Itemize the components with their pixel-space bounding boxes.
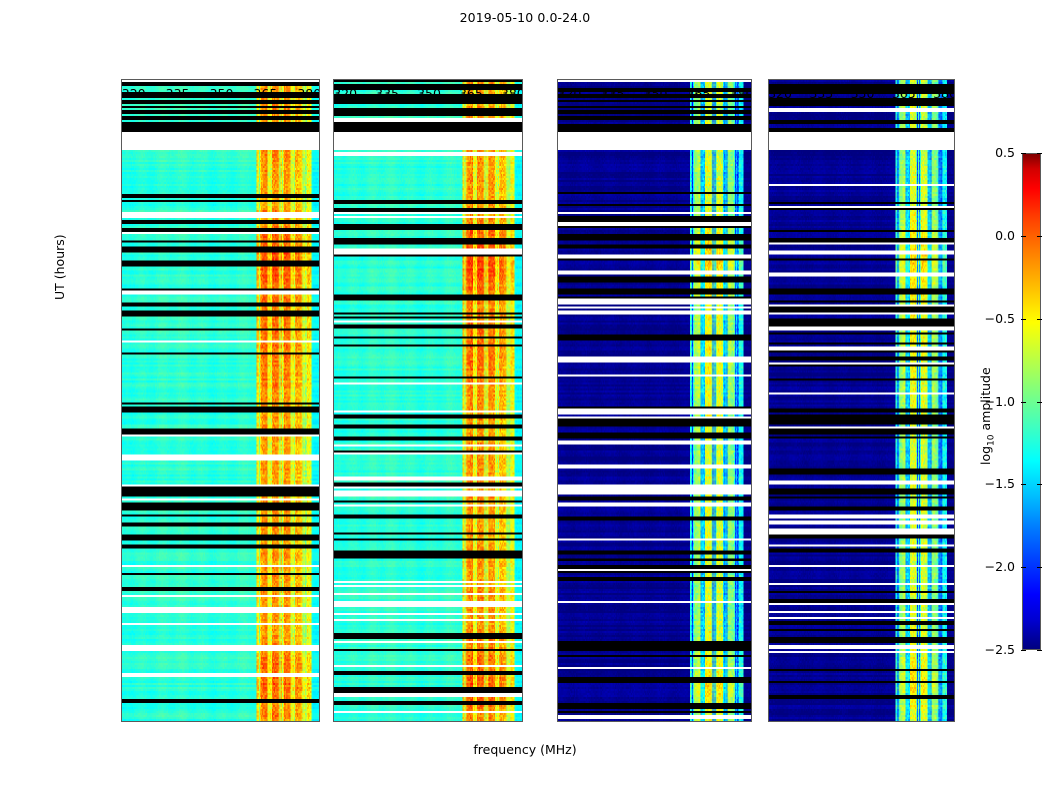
x-tick-yy-365 <box>471 721 472 722</box>
x-tick-top-yx-365 <box>904 79 905 80</box>
colorbar-tick-1 <box>1021 567 1026 568</box>
x-tick-label-yy-380: 380 <box>491 86 523 101</box>
x-tick-yx-320 <box>780 721 781 722</box>
x-tick-label-xy-365: 365 <box>677 86 721 101</box>
colorbar-tick-label-1: −2.0 <box>973 559 1015 574</box>
y-tick-right-yx-15 <box>954 321 955 322</box>
x-tick-top-yy-380 <box>513 79 514 80</box>
colorbar-tick-3 <box>1021 402 1026 403</box>
colorbar-label-subscript: 10 <box>987 434 997 445</box>
x-axis-label: frequency (MHz) <box>0 742 1050 757</box>
y-tick-right-yx-5 <box>954 589 955 590</box>
spectrum-panel-xy[interactable]: XY, V13=EA1132033535036538005101520 <box>557 79 752 722</box>
y-tick-xx-20 <box>121 187 122 188</box>
x-tick-label-yx-365: 365 <box>882 86 926 101</box>
figure-canvas: 2019-05-10 0.0-24.0 XX, V13=EA1132033535… <box>0 0 1050 800</box>
x-tick-top-yx-380 <box>945 79 946 80</box>
y-tick-right-yy-10 <box>522 455 523 456</box>
x-tick-top-yx-350 <box>863 79 864 80</box>
colorbar-tick-right-4 <box>1037 319 1042 320</box>
colorbar-tick-0 <box>1021 650 1026 651</box>
y-tick-right-xy-5 <box>751 589 752 590</box>
x-tick-yy-320 <box>345 721 346 722</box>
y-tick-yy-5 <box>333 589 334 590</box>
x-tick-top-xx-320 <box>134 79 135 80</box>
x-tick-xy-350 <box>656 721 657 722</box>
spectrum-panel-yx[interactable]: YX, V13=EA1132033535036538005101520 <box>768 79 955 722</box>
x-tick-label-xy-380: 380 <box>720 86 752 101</box>
x-tick-top-xy-335 <box>612 79 613 80</box>
colorbar-tick-2 <box>1021 484 1026 485</box>
x-tick-yx-350 <box>863 721 864 722</box>
x-tick-label-yx-320: 320 <box>768 86 802 101</box>
x-tick-label-xx-380: 380 <box>287 86 320 101</box>
dynamic-spectrum-image-xx <box>122 80 319 721</box>
spectrum-panel-xx[interactable]: XX, V13=EA1132033535036538005101520 <box>121 79 320 722</box>
y-tick-right-xy-10 <box>751 455 752 456</box>
x-tick-label-yy-365: 365 <box>449 86 493 101</box>
colorbar-tick-label-4: −0.5 <box>973 311 1015 326</box>
y-tick-xy-5 <box>557 589 558 590</box>
x-tick-xx-350 <box>222 721 223 722</box>
x-tick-xy-365 <box>699 721 700 722</box>
x-tick-top-yy-335 <box>387 79 388 80</box>
y-tick-right-yx-10 <box>954 455 955 456</box>
colorbar-label-base: log <box>978 446 993 465</box>
colorbar-tick-right-2 <box>1037 484 1042 485</box>
x-tick-top-yx-335 <box>821 79 822 80</box>
x-tick-label-yy-350: 350 <box>407 86 451 101</box>
y-tick-xy-20 <box>557 187 558 188</box>
x-tick-top-xx-365 <box>265 79 266 80</box>
x-tick-label-xy-335: 335 <box>590 86 634 101</box>
x-tick-yy-335 <box>387 721 388 722</box>
x-tick-label-yy-320: 320 <box>333 86 367 101</box>
y-tick-yy-10 <box>333 455 334 456</box>
colorbar-tick-6 <box>1021 153 1026 154</box>
x-tick-top-yy-365 <box>471 79 472 80</box>
colorbar-tick-right-5 <box>1037 236 1042 237</box>
x-tick-yx-335 <box>821 721 822 722</box>
x-tick-top-xy-365 <box>699 79 700 80</box>
dynamic-spectrum-image-yy <box>334 80 522 721</box>
x-tick-yy-350 <box>429 721 430 722</box>
colorbar-tick-right-6 <box>1037 153 1042 154</box>
x-tick-xy-380 <box>742 721 743 722</box>
y-tick-right-xy-20 <box>751 187 752 188</box>
x-tick-yx-365 <box>904 721 905 722</box>
colorbar-tick-right-3 <box>1037 402 1042 403</box>
dynamic-spectrum-image-yx <box>769 80 954 721</box>
colorbar-tick-label-6: 0.5 <box>973 145 1015 160</box>
y-tick-right-xx-5 <box>319 589 320 590</box>
y-tick-xy-15 <box>557 321 558 322</box>
x-tick-xx-320 <box>134 721 135 722</box>
x-tick-xy-335 <box>612 721 613 722</box>
colorbar-tick-5 <box>1021 236 1026 237</box>
x-tick-top-xx-380 <box>309 79 310 80</box>
y-tick-xx-10 <box>121 455 122 456</box>
y-tick-right-yy-5 <box>522 589 523 590</box>
colorbar-label: log10 amplitude <box>978 367 997 465</box>
x-tick-label-xx-335: 335 <box>156 86 200 101</box>
x-tick-top-yx-320 <box>780 79 781 80</box>
x-tick-top-yy-320 <box>345 79 346 80</box>
y-tick-right-xx-10 <box>319 455 320 456</box>
x-tick-label-xx-320: 320 <box>121 86 156 101</box>
y-tick-yx-20 <box>768 187 769 188</box>
x-tick-label-xy-320: 320 <box>557 86 591 101</box>
x-tick-top-yy-350 <box>429 79 430 80</box>
colorbar-label-tail: amplitude <box>978 367 993 434</box>
y-tick-right-xy-15 <box>751 321 752 322</box>
y-tick-right-xx-20 <box>319 187 320 188</box>
x-tick-label-xy-350: 350 <box>634 86 678 101</box>
x-tick-label-yy-335: 335 <box>365 86 409 101</box>
x-tick-top-xx-335 <box>178 79 179 80</box>
y-tick-xx-15 <box>121 321 122 322</box>
colorbar-tick-label-0: −2.5 <box>973 642 1015 657</box>
colorbar-tick-right-0 <box>1037 650 1042 651</box>
colorbar-tick-right-1 <box>1037 567 1042 568</box>
x-tick-yx-380 <box>945 721 946 722</box>
y-tick-right-yx-20 <box>954 187 955 188</box>
y-tick-yx-15 <box>768 321 769 322</box>
y-tick-right-xx-15 <box>319 321 320 322</box>
colorbar[interactable]: −2.5−2.0−1.5−1.0−0.50.00.5 <box>1022 153 1041 650</box>
spectrum-panel-yy[interactable]: YY, V13=EA1132033535036538005101520 <box>333 79 523 722</box>
colorbar-tick-label-2: −1.5 <box>973 476 1015 491</box>
colorbar-tick-4 <box>1021 319 1026 320</box>
dynamic-spectrum-image-xy <box>558 80 751 721</box>
x-tick-xx-335 <box>178 721 179 722</box>
y-tick-yx-10 <box>768 455 769 456</box>
x-tick-label-yx-335: 335 <box>799 86 843 101</box>
x-tick-top-xx-350 <box>222 79 223 80</box>
x-tick-xx-380 <box>309 721 310 722</box>
figure-suptitle: 2019-05-10 0.0-24.0 <box>0 10 1050 25</box>
x-tick-label-yx-350: 350 <box>841 86 885 101</box>
x-tick-label-yx-380: 380 <box>923 86 955 101</box>
x-tick-top-xy-350 <box>656 79 657 80</box>
y-tick-xx-5 <box>121 589 122 590</box>
y-tick-right-yy-15 <box>522 321 523 322</box>
colorbar-tick-label-5: 0.0 <box>973 228 1015 243</box>
x-tick-xy-320 <box>569 721 570 722</box>
x-tick-xx-365 <box>265 721 266 722</box>
y-tick-yy-20 <box>333 187 334 188</box>
x-tick-top-xy-320 <box>569 79 570 80</box>
x-tick-label-xx-350: 350 <box>200 86 244 101</box>
y-tick-yx-5 <box>768 589 769 590</box>
x-tick-top-xy-380 <box>742 79 743 80</box>
y-tick-xy-10 <box>557 455 558 456</box>
y-tick-right-yy-20 <box>522 187 523 188</box>
y-tick-yy-15 <box>333 321 334 322</box>
x-tick-yy-380 <box>513 721 514 722</box>
y-axis-label: UT (hours) <box>52 234 67 300</box>
x-tick-label-xx-365: 365 <box>243 86 287 101</box>
